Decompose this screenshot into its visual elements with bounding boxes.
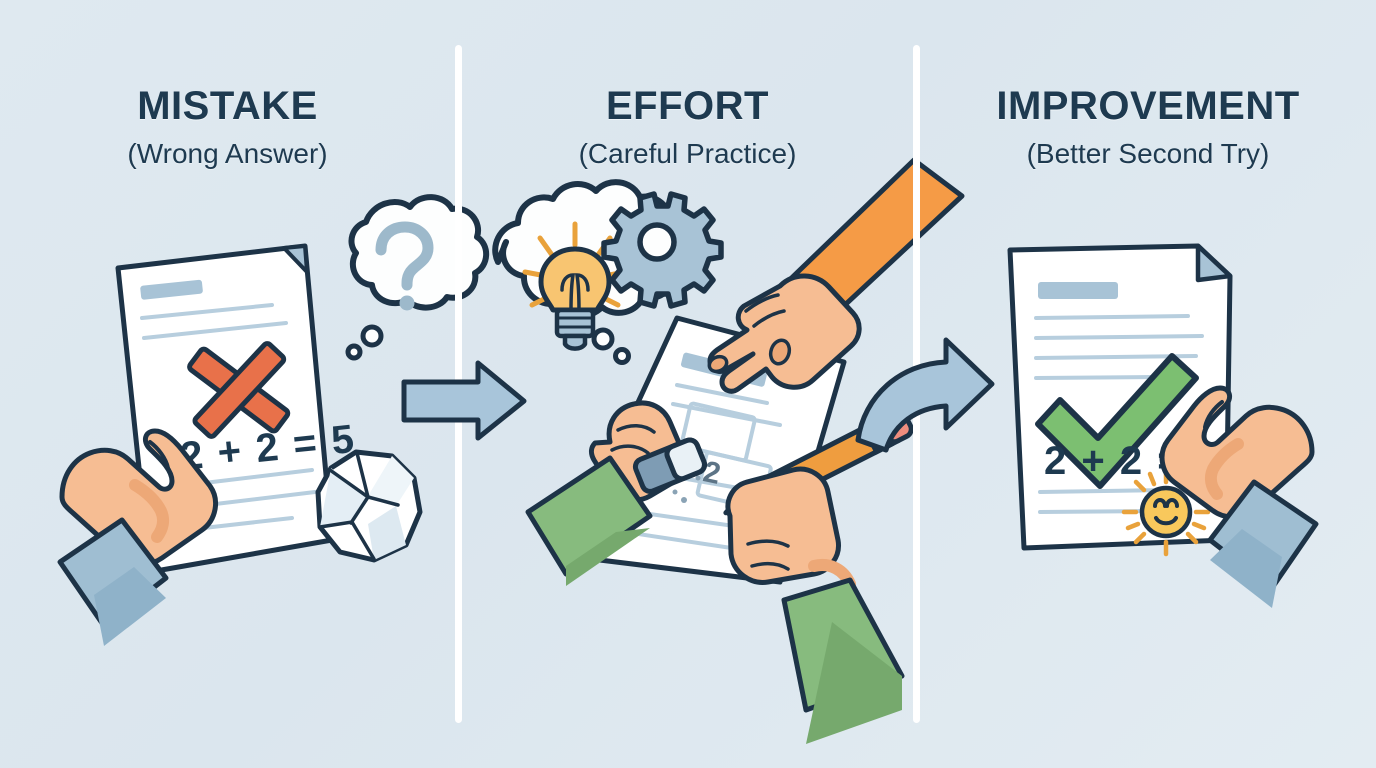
panel-mistake: MISTAKE (Wrong Answer): [0, 0, 455, 768]
crumpled-paper-ball-icon: [318, 452, 420, 560]
panel-improvement: IMPROVEMENT (Better Second Try): [920, 0, 1376, 768]
infographic-canvas: MISTAKE (Wrong Answer): [0, 0, 1376, 768]
panel-divider-1: [455, 45, 462, 723]
panel-divider-2: [913, 45, 920, 723]
panel-mistake-illustration: 2 + 2 = 5: [0, 0, 455, 768]
panel-effort-illustration: 2 + 2: [462, 0, 913, 768]
lightbulb-base-icon: [557, 310, 593, 349]
gear-icon: [604, 194, 721, 306]
panel-effort: EFFORT (Careful Practice): [462, 0, 913, 768]
panel-improvement-illustration: 2 + 2 = 4: [920, 0, 1376, 768]
